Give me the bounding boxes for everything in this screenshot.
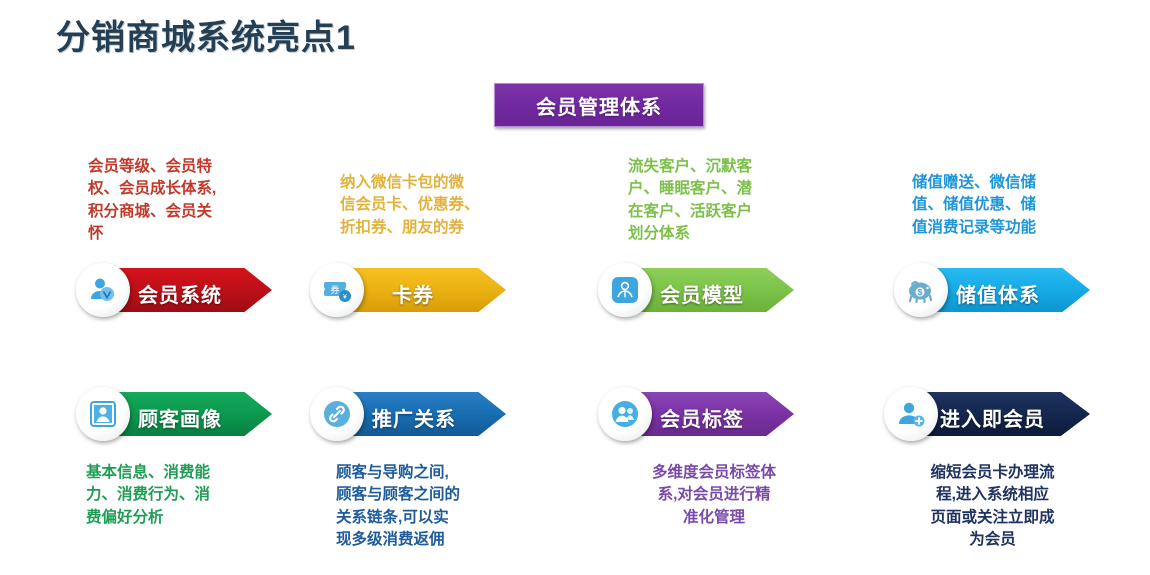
banner-label: 进入即会员 [940,403,1045,432]
link-chain-icon [310,387,364,441]
header-badge-label: 会员管理体系 [536,91,662,120]
banner-customer-profile[interactable]: 顾客画像 [76,386,276,442]
card-description-member-system: 会员等级、会员特 权、会员成长体系, 积分商城、会员关 怀 [88,156,268,246]
member-tag-users-icon [598,387,652,441]
svg-text:¥: ¥ [343,294,347,301]
banner-label: 储值体系 [956,279,1040,308]
header-badge-member-management[interactable]: 会员管理体系 [494,83,704,127]
card-description-instant-member: 缩短会员卡办理流 程,进入系统相应 页面或关注立即成 为会员 [900,462,1085,552]
member-person-icon [76,263,130,317]
svg-text:券: 券 [330,284,339,295]
svg-text:$: $ [918,288,923,297]
banner-coupon[interactable]: 卡券 券 ¥ [310,262,510,318]
banner-promotion-relationship[interactable]: 推广关系 [310,386,510,442]
coupon-ticket-icon: 券 ¥ [310,263,364,317]
banner-label: 推广关系 [372,403,456,432]
card-description-coupon: 纳入微信卡包的微 信会员卡、优惠券、 折扣券、朋友的券 [340,172,526,239]
portrait-photo-icon [76,387,130,441]
piggy-bank-icon: $ [894,263,948,317]
banner-member-tag[interactable]: 会员标签 [598,386,798,442]
page-title: 分销商城系统亮点1 [56,10,356,59]
banner-member-system[interactable]: 会员系统 [76,262,276,318]
banner-label: 会员模型 [660,279,744,308]
card-description-customer-profile: 基本信息、消费能 力、消费行为、消 费偏好分析 [86,462,266,529]
banner-label: 卡券 [392,279,434,308]
banner-label: 会员标签 [660,403,744,432]
add-person-icon [884,387,938,441]
banner-member-model[interactable]: 会员模型 [598,262,798,318]
banner-label: 顾客画像 [138,403,222,432]
banner-stored-value[interactable]: 储值体系 $ [894,262,1094,318]
card-description-promotion-relationship: 顾客与导购之间, 顾客与顾客之间的 关系链条,可以实 现多级消费返佣 [336,462,526,552]
banner-label: 会员系统 [138,279,222,308]
member-model-icon [598,263,652,317]
card-description-member-tag: 多维度会员标签体 系,对会员进行精 准化管理 [624,462,804,529]
card-description-stored-value: 储值赠送、微信储 值、储值优惠、储 值消费记录等功能 [912,172,1092,239]
banner-instant-member[interactable]: 进入即会员 [884,386,1084,442]
card-description-member-model: 流失客户、沉默客 户、睡眠客户、潜 在客户、活跃客户 划分体系 [628,156,798,246]
